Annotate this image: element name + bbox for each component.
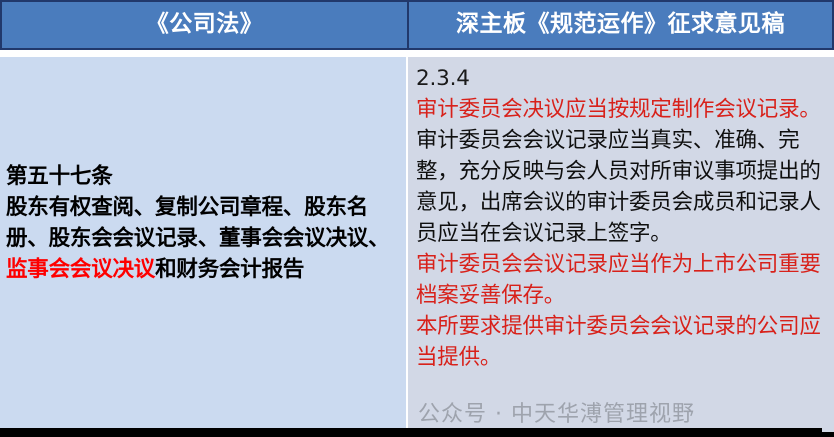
clause-paragraph-2: 审计委员会会议记录应当真实、准确、完整，充分反映与会人员对所审议事项提出的意见，… bbox=[416, 128, 821, 246]
cell-sz-main-board: 2.3.4审计委员会决议应当按规定制作会议记录。审计委员会会议记录应当真实、准确… bbox=[408, 57, 834, 435]
table-header-spacer-row bbox=[0, 50, 834, 57]
article-body-part-1: 股东有权查阅、复制公司章程、股东名册、股东会会议记录、董事会会议决议、 bbox=[6, 195, 389, 251]
comparison-slide: 《公司法》 深主板《规范运作》征求意见稿 第五十七条股东有权查阅、复制公司章程、… bbox=[0, 0, 834, 437]
cell-company-law: 第五十七条股东有权查阅、复制公司章程、股东名册、股东会会议记录、董事会会议决议、… bbox=[0, 57, 408, 435]
clause-paragraph-4: 本所要求提供审计委员会会议记录的公司应当提供。 bbox=[416, 314, 821, 370]
article-highlight-supervisory-board: 监事会会议决议 bbox=[6, 257, 155, 282]
table-header-row: 《公司法》 深主板《规范运作》征求意见稿 bbox=[0, 0, 834, 50]
sz-main-board-text: 2.3.4审计委员会决议应当按规定制作会议记录。审计委员会会议记录应当真实、准确… bbox=[408, 57, 834, 373]
clause-paragraph-1: 审计委员会决议应当按规定制作会议记录。 bbox=[416, 97, 821, 122]
article-body-part-2: 和财务会计报告 bbox=[155, 257, 304, 282]
clause-paragraph-3: 审计委员会会议记录应当作为上市公司重要档案妥善保存。 bbox=[416, 252, 821, 308]
company-law-text: 第五十七条股东有权查阅、复制公司章程、股东名册、股东会会议记录、董事会会议决议、… bbox=[0, 161, 406, 285]
spacer-right bbox=[408, 50, 834, 57]
article-title: 第五十七条 bbox=[6, 161, 404, 192]
comparison-table: 《公司法》 深主板《规范运作》征求意见稿 第五十七条股东有权查阅、复制公司章程、… bbox=[0, 0, 834, 435]
column-header-sz-main-board: 深主板《规范运作》征求意见稿 bbox=[408, 0, 834, 50]
table-body-row: 第五十七条股东有权查阅、复制公司章程、股东名册、股东会会议记录、董事会会议决议、… bbox=[0, 57, 834, 435]
column-header-company-law: 《公司法》 bbox=[0, 0, 408, 50]
spacer-left bbox=[0, 50, 408, 57]
bottom-black-bar-notch bbox=[822, 432, 834, 437]
bottom-black-bar bbox=[0, 428, 822, 437]
clause-number: 2.3.4 bbox=[416, 63, 834, 94]
